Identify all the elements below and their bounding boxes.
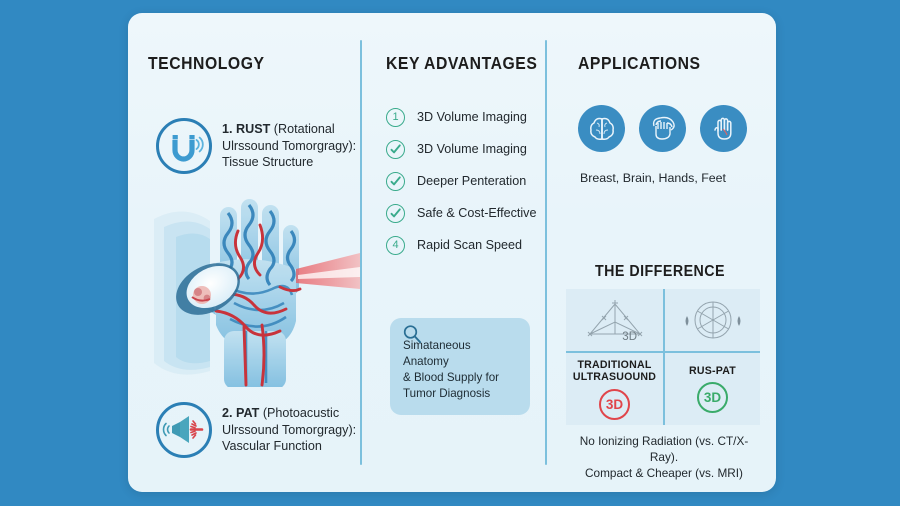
advantage-row-2[interactable]: 3D Volume Imaging <box>386 133 536 165</box>
advantage-label-3: Deeper Penteration <box>417 174 526 188</box>
check-icon-3 <box>386 172 405 191</box>
application-icons <box>578 105 747 152</box>
traditional-title-line1: TRADITIONAL <box>573 359 656 372</box>
magnifier-icon <box>402 324 422 349</box>
advantage-row-4[interactable]: Safe & Cost-Effective <box>386 197 536 229</box>
applications-header: APPLICATIONS <box>578 53 701 74</box>
pat-line1-rest: (Photoacustic <box>259 406 339 420</box>
technology-item-rust[interactable]: 1. RUST (Rotational Ulrssound Tomorgragy… <box>156 118 356 174</box>
traditional-diagram-cell: 3D <box>566 289 663 351</box>
difference-footer: No Ionizing Radiation (vs. CT/X-Ray). Co… <box>566 433 762 481</box>
advantage-row-5[interactable]: 4 Rapid Scan Speed <box>386 229 536 261</box>
check-icon-4 <box>386 204 405 223</box>
rotational-circle-icon <box>673 294 753 346</box>
pat-line2: Ulrssound Tomorgragy): <box>222 422 356 439</box>
check-icon-2 <box>386 140 405 159</box>
advantage-label-5: Rapid Scan Speed <box>417 238 522 252</box>
traditional-ultrasound-cell[interactable]: TRADITIONAL ULTRASUOUND 3D <box>566 351 663 425</box>
key-advantages-header: KEY ADVANTAGES <box>386 53 537 74</box>
traditional-3d-label: 3D <box>622 331 637 343</box>
triangular-wireframe-icon <box>578 296 652 344</box>
ruspat-cell[interactable]: RUS-PAT 3D <box>663 351 760 425</box>
advantage-label-2: 3D Volume Imaging <box>417 142 527 156</box>
ultrasound-magnet-icon <box>156 118 212 174</box>
difference-footer-line2: Compact & Cheaper (vs. MRI) <box>566 465 762 481</box>
number-badge-4: 4 <box>386 236 405 255</box>
ruspat-title-line1: RUS-PAT <box>689 365 736 378</box>
technology-item-pat-text: 2. PAT (Photoacustic Ulrssound Tomorgrag… <box>222 402 356 455</box>
technology-item-rust-text: 1. RUST (Rotational Ulrssound Tomorgragy… <box>222 118 356 171</box>
the-difference-header: THE DIFFERENCE <box>595 263 725 281</box>
rust-label: 1. RUST <box>222 122 270 136</box>
difference-comparison-grid: 3D <box>566 289 760 425</box>
difference-footer-line1: No Ionizing Radiation (vs. CT/X-Ray). <box>566 433 762 465</box>
advantage-label-1: 3D Volume Imaging <box>417 110 527 124</box>
number-badge-1: 1 <box>386 108 405 127</box>
technology-item-pat[interactable]: 2. PAT (Photoacustic Ulrssound Tomorgrag… <box>156 402 356 458</box>
technology-header: TECHNOLOGY <box>148 53 265 74</box>
column-divider-2 <box>545 40 547 465</box>
rust-line1-rest: (Rotational <box>270 122 334 136</box>
applications-caption: Breast, Brain, Hands, Feet <box>580 171 726 185</box>
note-line-2: & Blood Supply for <box>403 370 517 386</box>
note-line-3: Tumor Diagnosis <box>403 386 517 402</box>
key-advantages-list: 1 3D Volume Imaging 3D Volume Imaging De… <box>386 101 536 261</box>
hand-vascular-anatomy-illustration <box>146 191 362 387</box>
rust-line3: Tissue Structure <box>222 154 356 171</box>
advantage-row-3[interactable]: Deeper Penteration <box>386 165 536 197</box>
foot-brain-icon[interactable] <box>639 105 686 152</box>
rust-line2: Ulrssound Tomorgragy): <box>222 138 356 155</box>
traditional-3d-badge: 3D <box>599 389 630 420</box>
pat-line3: Vascular Function <box>222 438 356 455</box>
infographic-card: TECHNOLOGY KEY ADVANTAGES APPLICATIONS 1… <box>128 13 776 492</box>
ruspat-diagram-cell <box>663 289 760 351</box>
pat-label: 2. PAT <box>222 406 259 420</box>
advantage-row-1[interactable]: 1 3D Volume Imaging <box>386 101 536 133</box>
ruspat-3d-badge: 3D <box>697 382 728 413</box>
hand-icon[interactable] <box>700 105 747 152</box>
traditional-title-line2: ULTRASUOUND <box>573 371 656 384</box>
brain-icon[interactable] <box>578 105 625 152</box>
tumor-diagnosis-note[interactable]: Simataneous Anatomy & Blood Supply for T… <box>390 318 530 415</box>
advantage-label-4: Safe & Cost-Effective <box>417 206 536 220</box>
photoacoustic-speaker-icon <box>156 402 212 458</box>
infographic-stage: TECHNOLOGY KEY ADVANTAGES APPLICATIONS 1… <box>0 0 900 506</box>
